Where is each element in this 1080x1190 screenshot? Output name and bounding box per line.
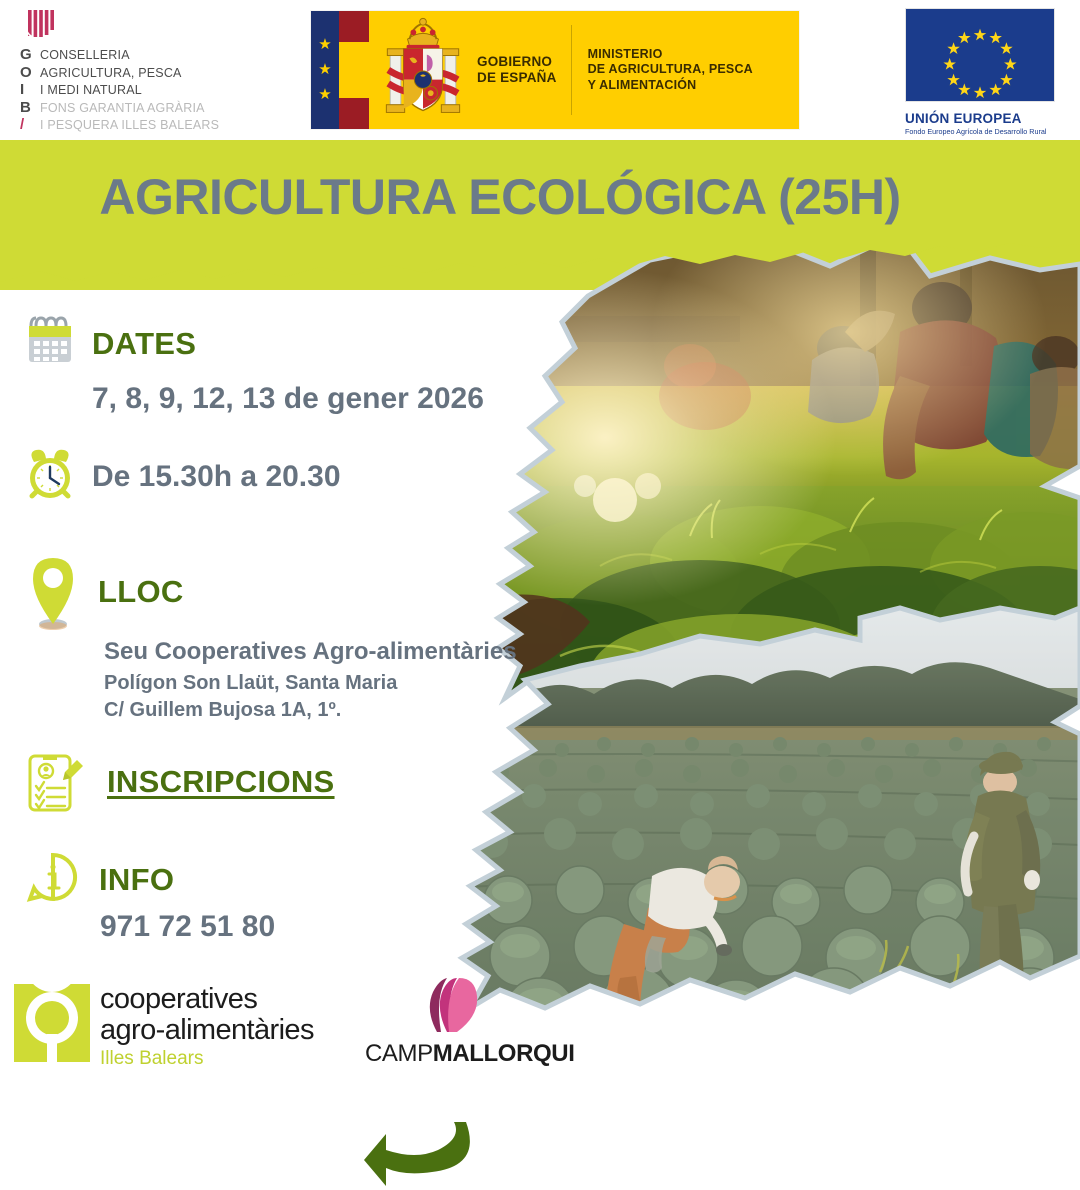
ministry-line-1: MINISTERIO: [588, 47, 753, 63]
tulip-petals-icon: [415, 976, 485, 1034]
goib-logo: G CONSELLERIA O AGRICULTURA, PESCA I I M…: [12, 6, 262, 134]
goib-line-text: I MEDI NATURAL: [40, 82, 142, 99]
dates-row: DATES: [22, 312, 196, 368]
registration-heading[interactable]: INSCRIPCIONS: [107, 764, 335, 800]
gobierno-line-1: GOBIERNO: [477, 54, 557, 70]
coop-line-1: cooperatives: [100, 984, 314, 1015]
ministry-line-3: Y ALIMENTACIÓN: [588, 78, 753, 94]
cooperatives-wordmark: cooperatives agro-alimentàries Illes Bal…: [100, 984, 314, 1070]
dates-value: 7, 8, 9, 12, 13 de gener 2026: [92, 382, 484, 416]
gobierno-name-block: GOBIERNO DE ESPAÑA: [477, 54, 571, 86]
time-row: De 15.30h a 20.30: [22, 448, 341, 504]
place-heading: LLOC: [98, 574, 184, 610]
goib-line: B FONS GARANTIA AGRÀRIA: [20, 99, 219, 117]
goib-letter: I: [20, 81, 40, 98]
phone-number[interactable]: 971 72 51 80: [100, 910, 275, 944]
goib-line: O AGRICULTURA, PESCA: [20, 64, 219, 82]
alarm-clock-icon: [22, 448, 78, 504]
european-union-flag-icon: [905, 8, 1055, 102]
ministry-line-2: DE AGRICULTURA, PESCA: [588, 62, 753, 78]
footer-logos: cooperatives agro-alimentàries Illes Bal…: [0, 960, 1080, 1080]
ministry-name-block: MINISTERIO DE AGRICULTURA, PESCA Y ALIME…: [572, 47, 753, 94]
goib-line: I I MEDI NATURAL: [20, 81, 219, 99]
header-logo-bar: G CONSELLERIA O AGRICULTURA, PESCA I I M…: [0, 0, 1080, 142]
info-phone-row[interactable]: 971 72 51 80: [100, 910, 275, 944]
place-line-2: Polígon Son Llaüt, Santa Maria: [104, 672, 517, 695]
goib-letter: /: [20, 116, 40, 133]
place-line-3: C/ Guillem Bujosa 1A, 1º.: [104, 699, 517, 722]
goib-line-text: FONS GARANTIA AGRÀRIA: [40, 100, 205, 117]
poster-canvas: G CONSELLERIA O AGRICULTURA, PESCA I I M…: [0, 0, 1080, 1080]
gobierno-line-2: DE ESPAÑA: [477, 70, 557, 86]
info-row: INFO: [25, 850, 174, 906]
camp-word-light: CAMP: [365, 1040, 433, 1067]
balearic-islands-crest-icon: [24, 8, 58, 42]
pencil-icon: [63, 760, 83, 780]
gobierno-de-espana-logo: ★★★: [310, 10, 800, 130]
goib-letter: O: [20, 64, 40, 81]
goib-line: G CONSELLERIA: [20, 46, 219, 64]
spain-eu-flag-strip-icon: ★★★: [311, 11, 369, 129]
camp-word-bold: MALLORQUI: [433, 1040, 575, 1067]
dates-value-row: 7, 8, 9, 12, 13 de gener 2026: [92, 382, 484, 416]
info-heading: INFO: [99, 862, 174, 898]
info-column: DATES 7, 8, 9, 12, 13 de gener 2026 De 1…: [0, 300, 560, 960]
gobierno-names: GOBIERNO DE ESPAÑA MINISTERIO DE AGRICUL…: [477, 11, 799, 129]
eu-subtitle: Fondo Europeo Agrícola de Desarrollo Rur…: [905, 127, 1067, 136]
goib-line-text: AGRICULTURA, PESCA: [40, 65, 182, 82]
camp-mallorqui-logo: CAMPMALLORQUI: [365, 976, 565, 1072]
torn-paper-edge: [0, 238, 1080, 294]
spain-coat-of-arms-icon: [369, 11, 477, 129]
registration-row[interactable]: INSCRIPCIONS: [25, 750, 335, 816]
calendar-icon: [22, 312, 78, 368]
coop-line-2: agro-alimentàries: [100, 1015, 314, 1046]
curved-arrow-icon: [360, 1112, 478, 1190]
camp-mallorqui-wordmark: CAMPMALLORQUI: [365, 1040, 574, 1068]
info-bubble-icon: [25, 850, 81, 906]
goib-letter: B: [20, 99, 40, 116]
dates-heading: DATES: [92, 326, 196, 362]
map-pin-icon: [22, 552, 84, 632]
goib-line-text: I PESQUERA ILLES BALEARS: [40, 117, 219, 134]
clipboard-checklist-icon: [25, 750, 83, 816]
place-row: LLOC: [22, 552, 184, 632]
european-union-logo: UNIÓN EUROPEA Fondo Europeo Agrícola de …: [905, 8, 1067, 136]
cooperatives-logo: cooperatives agro-alimentàries Illes Bal…: [14, 978, 344, 1068]
place-line-1: Seu Cooperatives Agro-alimentàries: [104, 638, 517, 666]
goib-letter: G: [20, 46, 40, 63]
goib-text-block: G CONSELLERIA O AGRICULTURA, PESCA I I M…: [20, 46, 219, 134]
place-address: Seu Cooperatives Agro-alimentàries Políg…: [104, 638, 517, 722]
goib-line: / I PESQUERA ILLES BALEARS: [20, 116, 219, 134]
page-title: AGRICULTURA ECOLÓGICA (25H): [0, 168, 1000, 226]
goib-line-text: CONSELLERIA: [40, 47, 130, 64]
cooperatives-tree-mark-icon: [14, 984, 90, 1062]
eu-title: UNIÓN EUROPEA: [905, 111, 1067, 126]
time-value: De 15.30h a 20.30: [92, 460, 341, 494]
coop-line-3: Illes Balears: [100, 1048, 314, 1070]
